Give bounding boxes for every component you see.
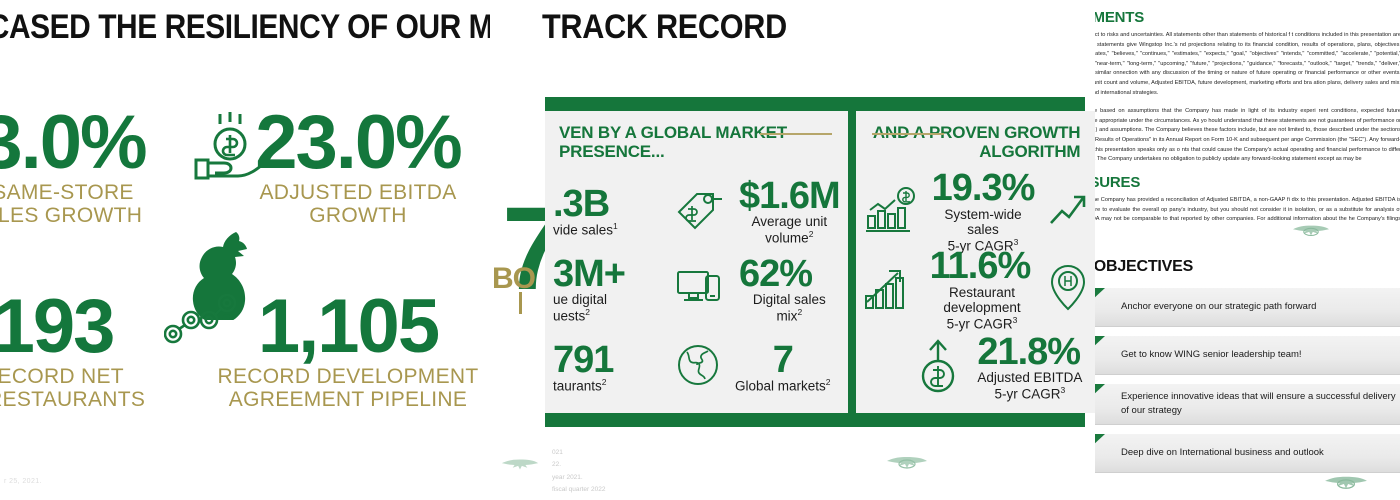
stat-value: 23.0% <box>228 108 488 178</box>
metric-value: 7 <box>735 342 831 378</box>
metric-caption: Average unit volume2 <box>739 214 840 246</box>
wingstop-wing-logo-icon <box>885 452 929 479</box>
stat-same-store-sales: 3.0% SAME-STORE ALES GROWTH <box>0 108 178 227</box>
metric-caption: Adjusted EBITDA 5-yr CAGR3 <box>977 370 1082 402</box>
globe-icon <box>675 342 721 393</box>
slide-left-title: WCASED THE RESILIENCY OF OUR MODEL <box>0 8 488 47</box>
stat-record-development-pipeline: 1,105 RECORD DEVELOPMENT AGREEMENT PIPEL… <box>214 292 482 411</box>
metric-adjusted-ebitda-cagr: 21.8% Adjusted EBITDA 5-yr CAGR3 <box>864 334 1089 402</box>
objective-text: Deep dive on International business and … <box>1095 440 1332 466</box>
metric-average-unit-volume: $1.6M Average unit volume2 <box>675 178 840 246</box>
slide-right: OOKING STATEMENTS ins forward-looking st… <box>1095 0 1400 500</box>
metric-global-markets: 7 Global markets2 <box>675 342 840 394</box>
objective-text: Anchor everyone on our strategic path fo… <box>1095 294 1324 320</box>
panel-right-heading: AND A PROVEN GROWTH ALGORITHM <box>866 123 1087 161</box>
metric-caption: ue digital uests2 <box>553 292 625 324</box>
stat-value: 193 <box>0 292 168 362</box>
price-tag-dollar-icon <box>675 186 725 239</box>
footnote-marker: 3 <box>1060 385 1065 395</box>
panel-left-heading: VEN BY A GLOBAL MARKET PRESENCE... <box>555 123 838 161</box>
footnote-marker: 3 <box>1013 315 1018 325</box>
metric-row: 3M+ ue digital uests2 <box>553 251 840 329</box>
objective-text: Get to know WING senior leadership team! <box>1095 342 1310 368</box>
background-ghost-bar <box>519 292 522 314</box>
legal-disclaimer-block: OOKING STATEMENTS ins forward-looking st… <box>1095 9 1400 243</box>
corner-accent-icon <box>1095 336 1105 360</box>
metric-restaurant-development-cagr: 11.6% Restaurant development 5-yr CAGR3 <box>864 248 1089 331</box>
objective-item[interactable]: Deep dive on International business and … <box>1095 434 1400 473</box>
metric-digital-sales-mix: 62% Digital sales mix2 <box>675 256 840 324</box>
location-pin-cutlery-icon <box>1048 263 1088 318</box>
slide-middle-title: TRACK RECORD <box>542 8 787 47</box>
panel-right-header: AND A PROVEN GROWTH ALGORITHM <box>856 111 1097 173</box>
stat-label: RECORD DEVELOPMENT AGREEMENT PIPELINE <box>214 366 482 411</box>
stat-label: ADJUSTED EBITDA GROWTH <box>228 182 488 227</box>
footnote-marker: 2 <box>826 377 831 387</box>
metric-row: 791 taurants2 <box>553 329 840 407</box>
slide-left: WCASED THE RESILIENCY OF OUR MODEL 3.0% … <box>0 0 545 500</box>
wingstop-wing-logo-icon <box>1323 472 1369 499</box>
objective-item[interactable]: Get to know WING senior leadership team! <box>1095 336 1400 375</box>
objective-item[interactable]: Anchor everyone on our strategic path fo… <box>1095 288 1400 327</box>
corner-accent-icon <box>1095 434 1105 458</box>
background-ghost-label: BO <box>492 262 535 296</box>
metric-systemwide-sales-cagr: 19.3% System-wide sales 5-yr CAGR3 <box>864 170 1089 253</box>
objectives-block: S OBJECTIVES Anchor everyone on our stra… <box>1095 258 1400 482</box>
presentation-screenshot: WCASED THE RESILIENCY OF OUR MODEL 3.0% … <box>0 0 1400 500</box>
metric-caption: Restaurant development 5-yr CAGR3 <box>930 285 1035 332</box>
metric-row: 19.3% System-wide sales 5-yr CAGR3 <box>864 173 1089 251</box>
metric-systemwide-sales: .3B vide sales1 <box>553 186 675 238</box>
wingstop-wing-logo-icon <box>1291 222 1331 245</box>
corner-accent-icon <box>1095 384 1105 408</box>
slide-middle-footnotes: 021 22. year 2021. fiscal quarter 2022 <box>552 447 605 496</box>
metric-row: 11.6% Restaurant development 5-yr CAGR3 <box>864 251 1089 329</box>
metric-value: 21.8% <box>977 334 1082 370</box>
stat-record-net-new-restaurants: 193 RECORD NET W RESTAURANTS <box>0 292 168 411</box>
metric-caption: Global markets2 <box>735 378 831 394</box>
slide-middle: TRACK RECORD 7 BO VEN BY A GLOBAL MARKET… <box>490 0 1100 500</box>
dollar-up-arrow-icon <box>913 338 963 399</box>
panel-global-market-presence: VEN BY A GLOBAL MARKET PRESENCE... .3B v… <box>545 111 848 413</box>
metric-value: 62% <box>739 256 840 292</box>
footnote-marker: 2 <box>809 229 814 239</box>
footnote-marker: 2 <box>585 307 590 317</box>
stat-value: 1,105 <box>214 292 482 362</box>
objectives-heading: S OBJECTIVES <box>1095 258 1400 276</box>
footnote-marker: 1 <box>613 221 618 231</box>
metric-value: 19.3% <box>932 170 1035 206</box>
objective-item[interactable]: Experience innovative ideas that will en… <box>1095 384 1400 425</box>
stat-value: 3.0% <box>0 108 178 178</box>
bar-chart-arrow-icon <box>864 264 916 317</box>
metric-row: 21.8% Adjusted EBITDA 5-yr CAGR3 <box>864 329 1089 407</box>
metric-row: .3B vide sales1 <box>553 173 840 251</box>
divider-rule <box>872 133 944 135</box>
stat-adjusted-ebitda-growth: 23.0% ADJUSTED EBITDA GROWTH <box>228 108 488 227</box>
stat-label: SAME-STORE ALES GROWTH <box>0 182 178 227</box>
metric-restaurants: 791 taurants2 <box>553 342 675 394</box>
panel-left-header: VEN BY A GLOBAL MARKET PRESENCE... <box>545 111 848 173</box>
track-record-card: VEN BY A GLOBAL MARKET PRESENCE... .3B v… <box>545 97 1085 427</box>
metric-caption: taurants2 <box>553 378 613 394</box>
corner-accent-icon <box>1095 288 1105 312</box>
metric-value: $1.6M <box>739 178 840 214</box>
metric-caption: Digital sales mix2 <box>739 292 840 324</box>
metric-value: 791 <box>553 342 613 378</box>
metric-value: 3M+ <box>553 256 625 292</box>
slide-left-footer: r 25, 2021. <box>4 478 42 485</box>
bar-chart-dollar-icon <box>864 186 918 239</box>
non-gaap-financial-measures-heading: INANCIAL MEASURES <box>1095 174 1400 191</box>
footnote-marker: 2 <box>797 307 802 317</box>
footnote-marker: 2 <box>602 377 607 387</box>
non-gaap-paragraph: ins certain non-GAAP financial measures.… <box>1095 196 1400 234</box>
forward-looking-paragraph-2: atements contained in this presentation … <box>1095 107 1400 165</box>
wingstop-wing-logo-icon <box>500 455 540 480</box>
forward-looking-statements-heading: OOKING STATEMENTS <box>1095 9 1400 26</box>
trend-arrow-icon <box>1048 192 1088 233</box>
metric-digital-guests: 3M+ ue digital uests2 <box>553 256 675 324</box>
divider-rule <box>760 133 832 135</box>
metric-value: 11.6% <box>930 248 1035 284</box>
panel-proven-growth-algorithm: AND A PROVEN GROWTH ALGORITHM <box>856 111 1097 413</box>
stat-label: RECORD NET W RESTAURANTS <box>0 366 168 411</box>
objective-text: Experience innovative ideas that will en… <box>1095 384 1400 424</box>
metric-caption: vide sales1 <box>553 222 618 238</box>
metric-value: .3B <box>553 186 618 222</box>
forward-looking-paragraph-1: ins forward-looking statements that are … <box>1095 31 1400 98</box>
devices-icon <box>675 267 725 314</box>
